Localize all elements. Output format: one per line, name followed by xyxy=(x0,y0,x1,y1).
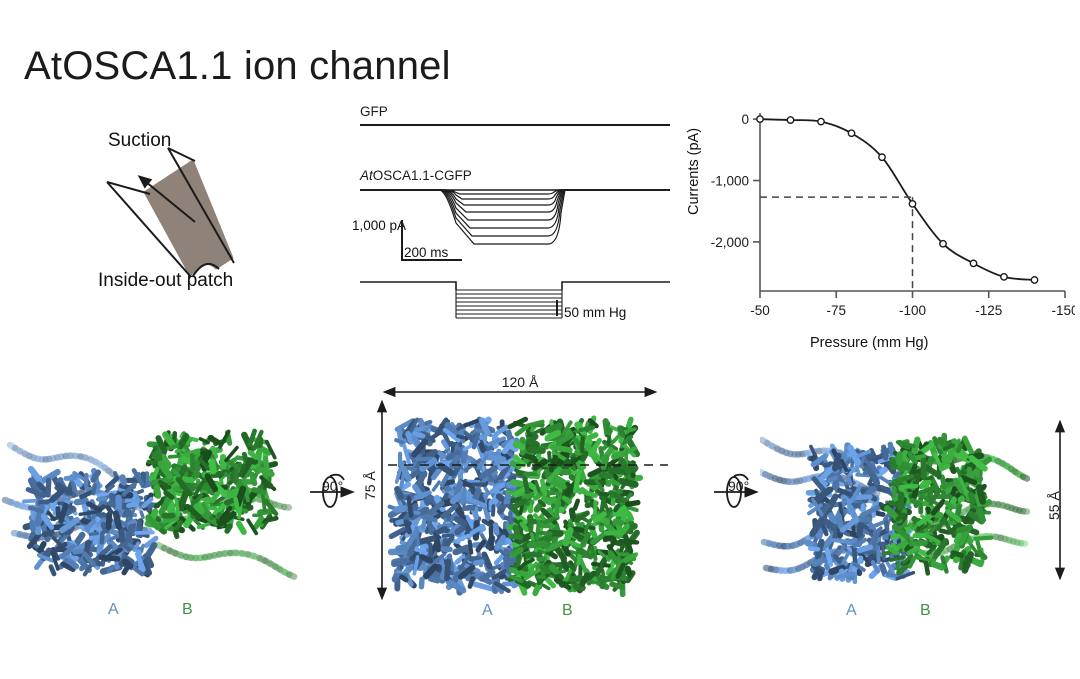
chart-y-tick-label: -2,000 xyxy=(711,235,749,250)
width-dimension-label: 120 Å xyxy=(502,374,539,390)
chart-x-tick-label: -150 xyxy=(1051,303,1075,318)
dimension-overlay xyxy=(0,360,1080,660)
chart-x-tick-label: -75 xyxy=(826,303,846,318)
chart-y-tick-label: -1,000 xyxy=(711,174,749,189)
chart-data-point xyxy=(1001,274,1007,280)
pipette-body xyxy=(144,160,233,276)
chart-data-point xyxy=(757,116,763,122)
rotation-label-1: 90° xyxy=(322,478,343,494)
chart-x-tick-label: -100 xyxy=(899,303,926,318)
chart-x-axis-label: Pressure (mm Hg) xyxy=(810,335,928,351)
chart-data-point xyxy=(787,117,793,123)
inside-out-patch-schematic: Suction Inside-out patch xyxy=(30,130,330,305)
osca-current-trace-group xyxy=(360,190,670,244)
chart-data-point xyxy=(879,154,885,160)
pipette-drawing xyxy=(30,130,330,305)
chart-y-tick-label: 0 xyxy=(741,112,749,127)
height-dimension-label: 75 Å xyxy=(362,471,378,500)
rotation-label-2: 90° xyxy=(728,478,749,494)
current-trace-3 xyxy=(360,190,670,205)
chart-plot-area: -50-75-100-125-1500-1,000-2,000 xyxy=(690,95,1075,330)
chart-data-point xyxy=(940,241,946,247)
chart-x-tick-label: -50 xyxy=(750,303,770,318)
current-trace-7 xyxy=(360,190,670,236)
chart-data-point xyxy=(1031,277,1037,283)
depth-dimension-label: 55 Å xyxy=(1046,491,1062,520)
chart-data-point xyxy=(848,130,854,136)
pressure-baseline xyxy=(360,282,670,290)
chart-data-point xyxy=(970,260,976,266)
pressure-step-group xyxy=(456,290,562,318)
chart-x-tick-label: -125 xyxy=(975,303,1002,318)
pressure-response-chart: Currents (pA) Pressure (mm Hg) -50-75-10… xyxy=(690,95,1075,365)
chart-fit-curve xyxy=(760,119,1035,280)
scale-bars xyxy=(402,220,462,260)
current-trace-6 xyxy=(360,190,670,228)
current-trace-4 xyxy=(360,190,670,212)
ephys-traces-svg xyxy=(352,100,682,350)
chart-data-point xyxy=(909,201,915,207)
page-title: AtOSCA1.1 ion channel xyxy=(24,44,451,89)
electrophysiology-panel: GFP AtOSCA1.1-CGFP 1,000 pA 200 ms 50 mm… xyxy=(352,100,682,350)
chart-data-point xyxy=(818,118,824,124)
